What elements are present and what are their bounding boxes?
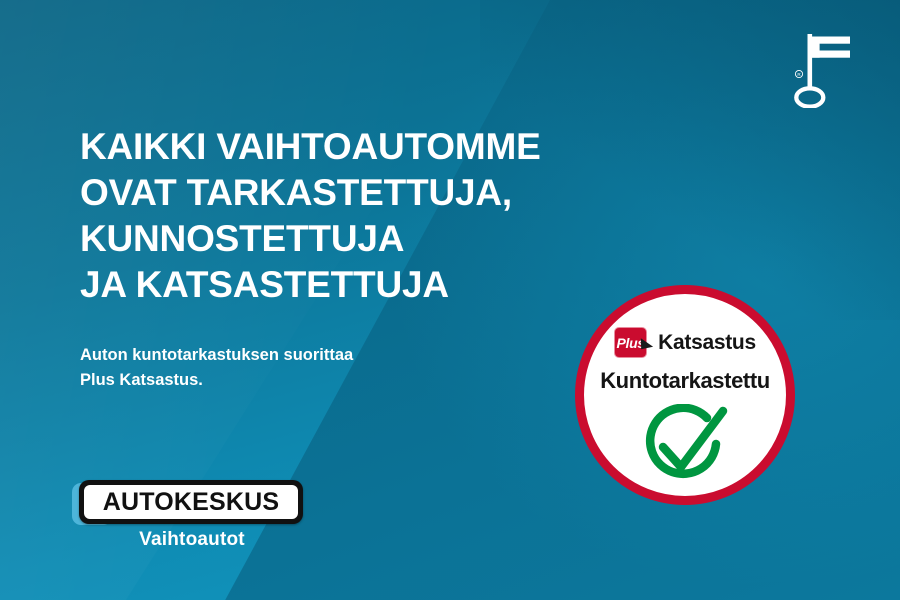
headline-line-2: OVAT TARKASTETTUJA, xyxy=(80,170,680,216)
badge-title: Kuntotarkastettu xyxy=(584,368,786,394)
plus-logo-tail-icon xyxy=(641,338,653,349)
green-circle-check-icon xyxy=(637,404,733,490)
logo-tagline: Vaihtoautot xyxy=(72,529,312,551)
plus-logo-mark: Plus xyxy=(614,327,653,358)
subtitle-line-1: Auton kuntotarkastuksen suorittaa xyxy=(80,343,510,368)
logo-wordmark: AUTOKESKUS xyxy=(103,490,280,515)
logo-plate-inner: AUTOKESKUS xyxy=(84,485,298,519)
avainlippu-key-flag-icon: R xyxy=(786,26,858,108)
logo-plate: AUTOKESKUS xyxy=(79,480,303,524)
svg-text:R: R xyxy=(797,72,801,77)
headline-line-1: KAIKKI VAIHTOAUTOMME xyxy=(80,124,680,170)
plus-katsastus-badge: Plus Katsastus Kuntotarkastettu xyxy=(575,285,795,505)
badge-brand-word: Katsastus xyxy=(658,332,756,353)
badge-logo-row: Plus Katsastus xyxy=(584,327,786,358)
headline-line-3: KUNNOSTETTUJA xyxy=(80,216,680,262)
headline: KAIKKI VAIHTOAUTOMME OVAT TARKASTETTUJA,… xyxy=(80,124,680,308)
promotional-banner: R KAIKKI VAIHTOAUTOMME OVAT TARKASTETTUJ… xyxy=(0,0,900,600)
subtitle: Auton kuntotarkastuksen suorittaa Plus K… xyxy=(80,343,510,393)
subtitle-line-2: Plus Katsastus. xyxy=(80,368,510,393)
autokeskus-logo: AUTOKESKUS xyxy=(72,480,312,526)
headline-line-4: JA KATSASTETTUJA xyxy=(80,262,680,308)
